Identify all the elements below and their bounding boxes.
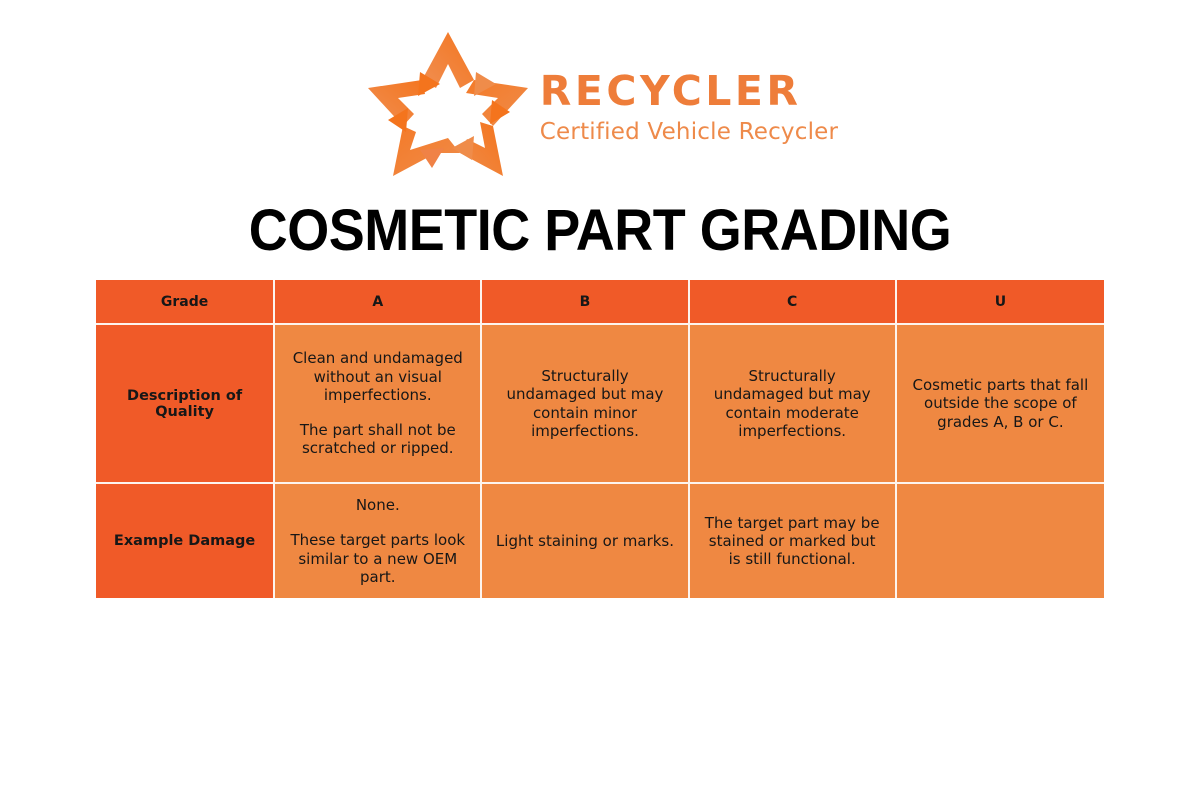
column-header-grade: Grade <box>96 280 275 325</box>
logo-wordmark: RECYCLER Certified Vehicle Recycler <box>540 62 838 145</box>
brand-tagline: Certified Vehicle Recycler <box>540 120 838 145</box>
cell-paragraph: Structurally undamaged but may contain m… <box>702 367 883 440</box>
brand-name: RECYCLER <box>540 70 838 113</box>
cell-description-u: Cosmetic parts that fall outside the sco… <box>897 325 1104 484</box>
cell-example-c: The target part may be stained or marked… <box>690 484 897 598</box>
cell-paragraph: These target parts look similar to a new… <box>287 531 468 586</box>
cell-description-c: Structurally undamaged but may contain m… <box>690 325 897 484</box>
column-header-b: B <box>482 280 689 325</box>
column-header-c: C <box>690 280 897 325</box>
cell-example-b: Light staining or marks. <box>482 484 689 598</box>
cell-description-a: Clean and undamaged without an visual im… <box>275 325 482 484</box>
table-header: Grade A B C U <box>96 280 1104 325</box>
recycling-star-icon <box>362 28 534 180</box>
page-root: RECYCLER Certified Vehicle Recycler COSM… <box>0 0 1200 800</box>
table-header-row: Grade A B C U <box>96 280 1104 325</box>
table-row: Description of Quality Clean and undamag… <box>96 325 1104 484</box>
row-label-example-damage: Example Damage <box>96 484 275 598</box>
brand-logo: RECYCLER Certified Vehicle Recycler <box>0 28 1200 180</box>
column-header-a: A <box>275 280 482 325</box>
cell-description-b: Structurally undamaged but may contain m… <box>482 325 689 484</box>
table-body: Description of Quality Clean and undamag… <box>96 325 1104 598</box>
cell-paragraph: Clean and undamaged without an visual im… <box>287 349 468 404</box>
cell-paragraph: The part shall not be scratched or rippe… <box>287 421 468 458</box>
table-row: Example Damage None. These target parts … <box>96 484 1104 598</box>
page-title: COSMETIC PART GRADING <box>42 197 1158 264</box>
cell-paragraph: Light staining or marks. <box>494 532 675 550</box>
cell-example-u <box>897 484 1104 598</box>
cell-paragraph: The target part may be stained or marked… <box>702 514 883 569</box>
column-header-u: U <box>897 280 1104 325</box>
cosmetic-part-grading-table: Grade A B C U Description of Quality Cle… <box>96 280 1104 598</box>
cell-paragraph: Structurally undamaged but may contain m… <box>494 367 675 440</box>
cell-paragraph: Cosmetic parts that fall outside the sco… <box>909 376 1092 431</box>
cell-example-a: None. These target parts look similar to… <box>275 484 482 598</box>
row-label-description-of-quality: Description of Quality <box>96 325 275 484</box>
cell-paragraph: None. <box>287 496 468 514</box>
